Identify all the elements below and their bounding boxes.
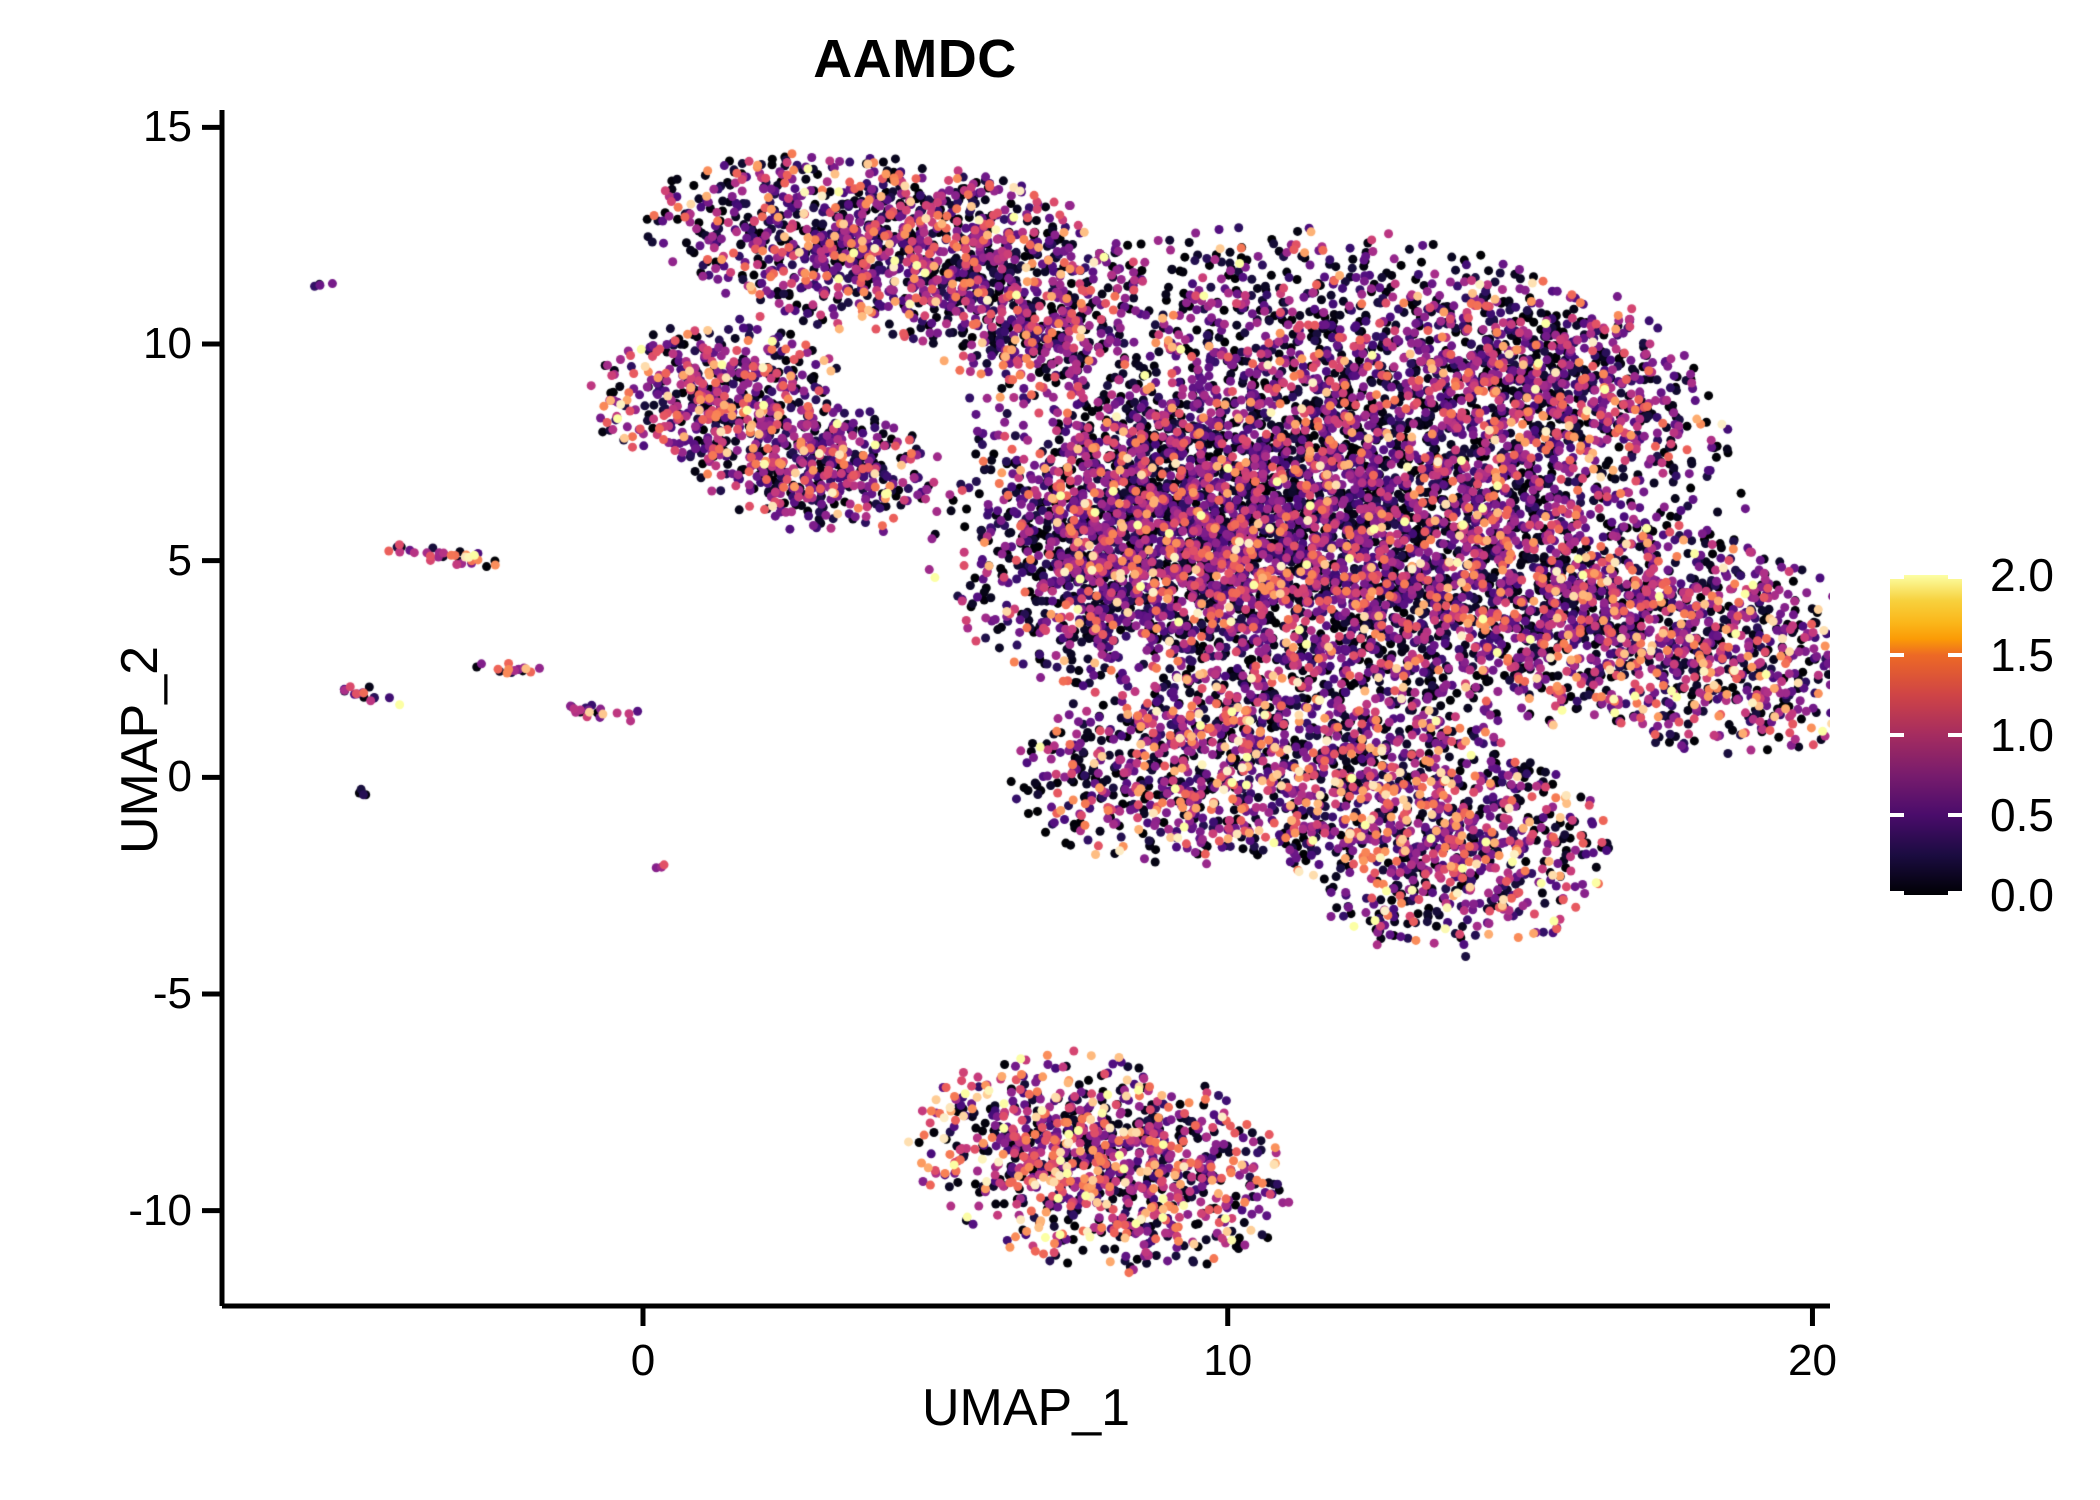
y-tick-label: 15 — [60, 102, 192, 152]
colorbar-tick-label: 1.5 — [1990, 628, 2054, 682]
colorbar-tick-mark — [1890, 813, 1904, 817]
umap-feature-plot: AAMDC 151050-5-10 01020 UMAP_2 UMAP_1 2.… — [0, 0, 2100, 1500]
colorbar-tick-label: 2.0 — [1990, 548, 2054, 602]
y-tick-marks — [202, 127, 222, 1210]
page-title: AAMDC — [0, 28, 1830, 90]
colorbar-tick-mark — [1890, 733, 1904, 737]
colorbar-tick-mark — [1948, 813, 1962, 817]
y-axis-title: UMAP_2 — [110, 646, 170, 854]
y-tick-label: 10 — [60, 319, 192, 369]
colorbar-tick-mark — [1948, 733, 1962, 737]
y-tick-label: -5 — [60, 969, 192, 1019]
colorbar-tick-mark — [1890, 575, 1904, 579]
colorbar-tick-mark — [1948, 653, 1962, 657]
colorbar-tick-mark — [1948, 891, 1962, 895]
y-tick-label: 5 — [60, 536, 192, 586]
colorbar-tick-mark — [1890, 653, 1904, 657]
colorbar-tick-mark — [1948, 575, 1962, 579]
y-tick-label: -10 — [60, 1186, 192, 1236]
color-legend: 2.01.51.00.50.0 — [1890, 575, 2080, 905]
x-axis-title: UMAP_1 — [222, 1378, 1830, 1438]
x-tick-marks — [643, 1306, 1812, 1326]
colorbar-tick-label: 1.0 — [1990, 708, 2054, 762]
scatter-plot-canvas — [222, 110, 1830, 1306]
colorbar-tick-label: 0.5 — [1990, 788, 2054, 842]
colorbar-tick-label: 0.0 — [1990, 868, 2054, 922]
colorbar-tick-mark — [1890, 891, 1904, 895]
